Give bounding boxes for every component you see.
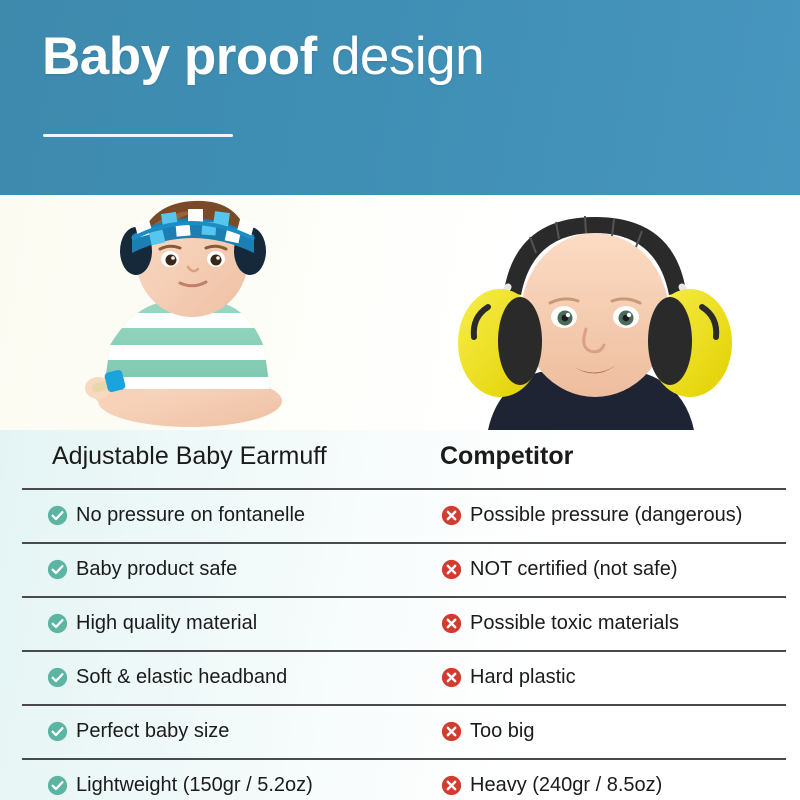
feature-cell-product: No pressure on fontanelle — [47, 503, 305, 527]
feature-label: Perfect baby size — [76, 719, 229, 743]
feature-label: Possible pressure (dangerous) — [470, 503, 742, 527]
table-header-row: Adjustable Baby Earmuff Competitor — [0, 430, 800, 488]
table-row: Soft & elastic headband Hard plastic — [0, 652, 800, 704]
infographic-page: Baby proof design — [0, 0, 800, 800]
page-title-bold: Baby proof — [42, 27, 317, 86]
feature-label: Baby product safe — [76, 557, 237, 581]
cross-circle-icon — [441, 559, 462, 580]
feature-cell-product: Lightweight (150gr / 5.2oz) — [47, 773, 313, 797]
feature-cell-product: Baby product safe — [47, 557, 237, 581]
feature-label: Soft & elastic headband — [76, 665, 287, 689]
table-row: No pressure on fontanelle Possible press… — [0, 490, 800, 542]
check-circle-icon — [47, 559, 68, 580]
cross-circle-icon — [441, 721, 462, 742]
check-circle-icon — [47, 667, 68, 688]
table-row: High quality material Possible toxic mat… — [0, 598, 800, 650]
cross-circle-icon — [441, 667, 462, 688]
comparison-table: Adjustable Baby Earmuff Competitor No pr… — [0, 430, 800, 800]
feature-cell-competitor: Too big — [441, 719, 535, 743]
column-header-competitor: Competitor — [440, 442, 573, 471]
product-photo-band — [0, 195, 800, 430]
cross-circle-icon — [441, 505, 462, 526]
feature-cell-competitor: Hard plastic — [441, 665, 576, 689]
feature-label: Lightweight (150gr / 5.2oz) — [76, 773, 313, 797]
feature-cell-product: High quality material — [47, 611, 257, 635]
feature-label: Hard plastic — [470, 665, 576, 689]
feature-label: High quality material — [76, 611, 257, 635]
table-row: Baby product safe NOT certified (not saf… — [0, 544, 800, 596]
column-header-product: Adjustable Baby Earmuff — [52, 442, 327, 471]
feature-cell-competitor: Heavy (240gr / 8.5oz) — [441, 773, 662, 797]
check-circle-icon — [47, 721, 68, 742]
check-circle-icon — [47, 613, 68, 634]
table-row: Lightweight (150gr / 5.2oz) Heavy (240gr… — [0, 760, 800, 800]
page-title-light: design — [317, 27, 484, 86]
header-banner: Baby proof design — [0, 0, 800, 195]
feature-label: Too big — [470, 719, 535, 743]
feature-label: Heavy (240gr / 8.5oz) — [470, 773, 662, 797]
feature-label: No pressure on fontanelle — [76, 503, 305, 527]
feature-label: Possible toxic materials — [470, 611, 679, 635]
feature-cell-product: Soft & elastic headband — [47, 665, 287, 689]
cross-circle-icon — [441, 775, 462, 796]
feature-cell-competitor: NOT certified (not safe) — [441, 557, 677, 581]
photo-adjustable-baby-earmuff — [40, 195, 370, 430]
check-circle-icon — [47, 775, 68, 796]
feature-cell-competitor: Possible pressure (dangerous) — [441, 503, 742, 527]
table-row: Perfect baby size Too big — [0, 706, 800, 758]
page-title: Baby proof design — [42, 26, 484, 88]
feature-cell-competitor: Possible toxic materials — [441, 611, 679, 635]
cross-circle-icon — [441, 613, 462, 634]
feature-label: NOT certified (not safe) — [470, 557, 677, 581]
header-accent-rule — [43, 134, 233, 137]
feature-cell-product: Perfect baby size — [47, 719, 229, 743]
check-circle-icon — [47, 505, 68, 526]
photo-competitor-earmuff — [430, 195, 760, 430]
